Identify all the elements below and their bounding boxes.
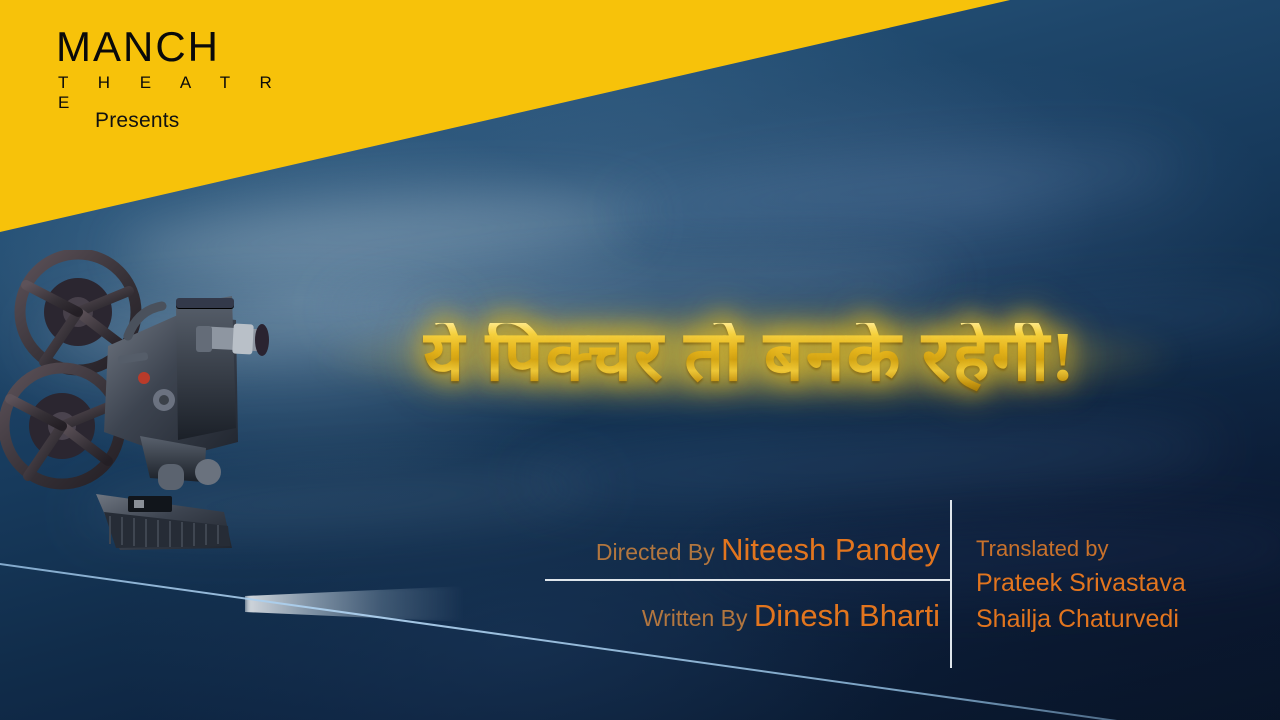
- credit-written-name: Dinesh Bharti: [754, 598, 940, 633]
- credit-directed-role: Directed By: [596, 539, 721, 565]
- theatre-poster: ये पिक्चर तो बनके रहेगी! Directed By Nit…: [0, 0, 1280, 720]
- credits-horizontal-rule: [545, 579, 951, 581]
- credits-vertical-rule: [950, 500, 952, 668]
- logo-subtitle: T H E A T R E: [56, 73, 296, 113]
- credit-directed-by: Directed By Niteesh Pandey: [0, 532, 940, 568]
- credit-written-by: Written By Dinesh Bharti: [0, 598, 940, 634]
- credit-translator-1: Prateek Srivastava: [976, 565, 1276, 601]
- credit-translated-role: Translated by: [976, 533, 1276, 565]
- credit-directed-name: Niteesh Pandey: [721, 532, 940, 567]
- credit-translator-2: Shailja Chaturvedi: [976, 601, 1276, 637]
- presents-label: Presents: [95, 109, 179, 133]
- logo-wordmark: MANCH: [56, 26, 296, 69]
- manch-theatre-logo: MANCH T H E A T R E: [56, 26, 296, 113]
- credit-written-role: Written By: [642, 605, 754, 631]
- credit-translated-by: Translated by Prateek Srivastava Shailja…: [976, 533, 1276, 637]
